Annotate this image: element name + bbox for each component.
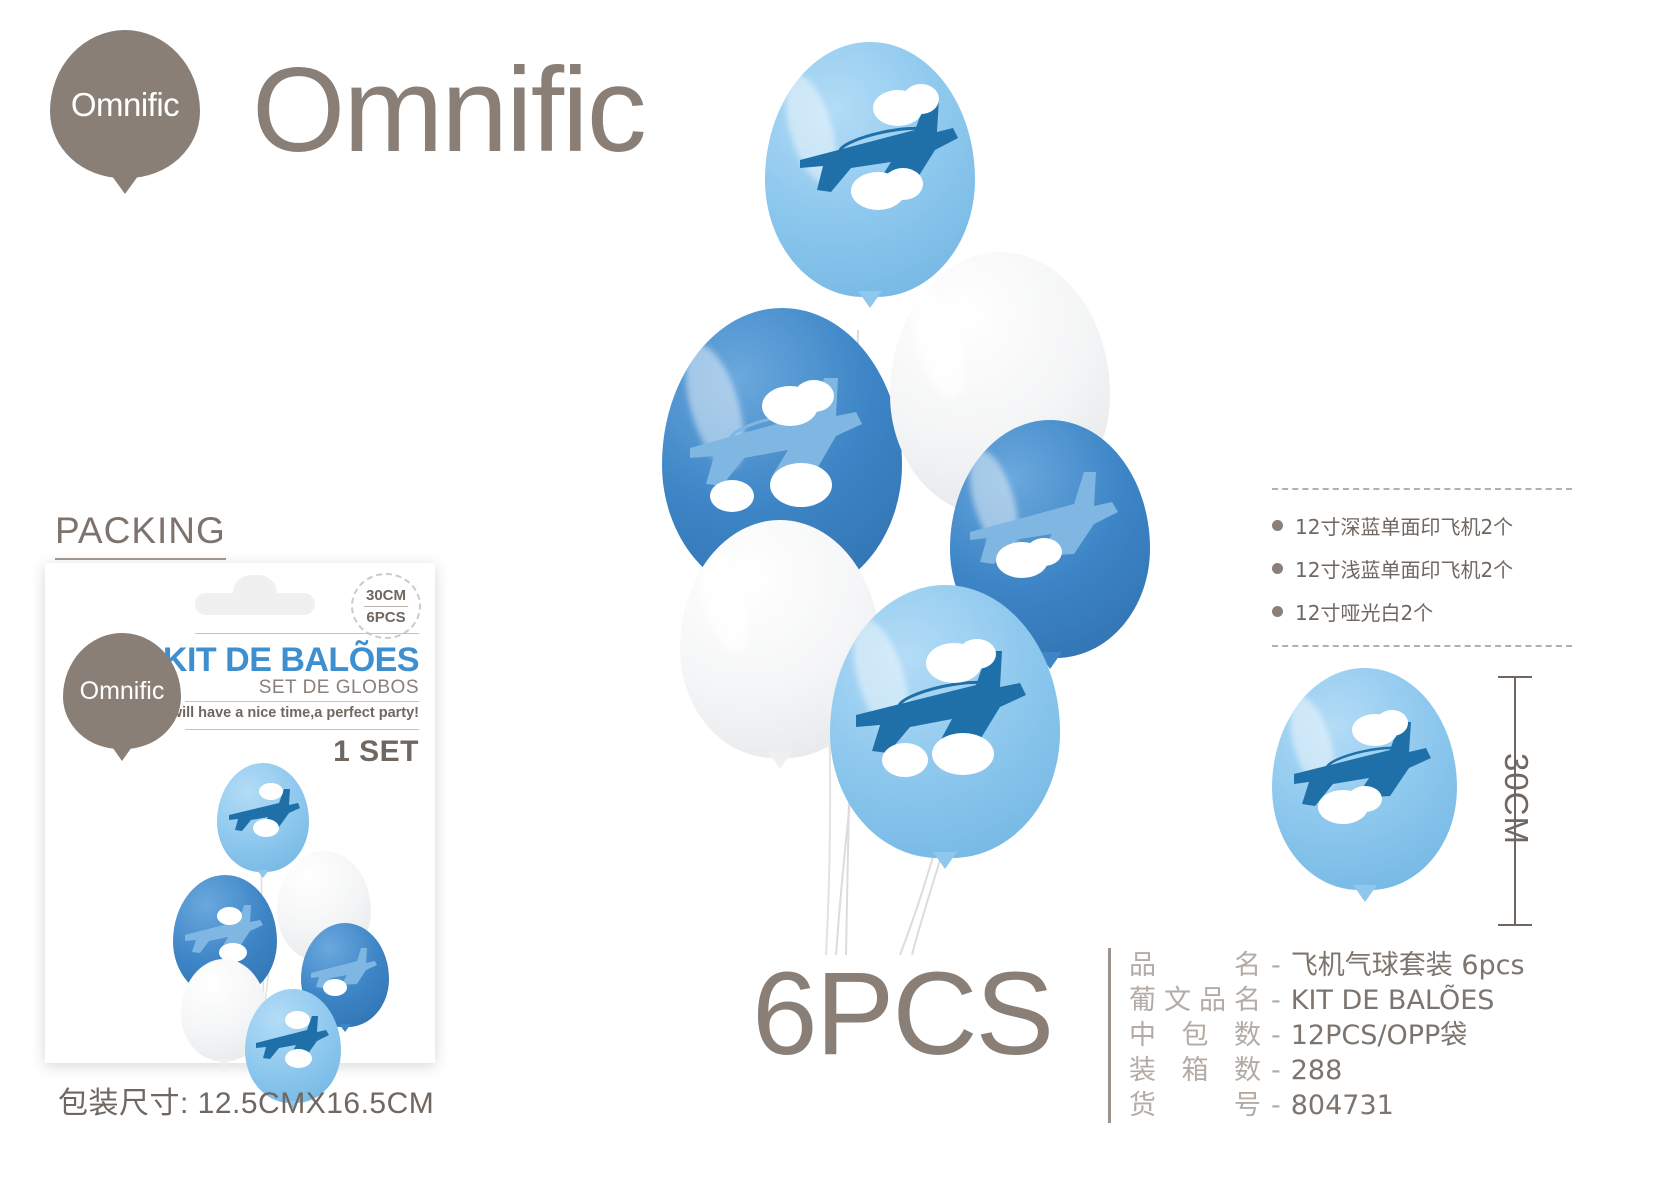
hero-balloon-cluster [640, 30, 1160, 960]
contents-item-label: 12寸深蓝单面印飞机2个 [1295, 511, 1513, 540]
spec-dash: - [1261, 1088, 1291, 1123]
bullet-icon [1272, 563, 1283, 574]
brand-logo-text: Omnific [50, 86, 200, 124]
cloud-shape [882, 743, 928, 777]
spec-key-char: 数 [1234, 1018, 1261, 1053]
balloon-light-blue-bottom [830, 585, 1060, 895]
cloud-shape [1376, 710, 1408, 736]
dimension-label: 30CM [1497, 729, 1535, 869]
spec-key-char: 名 [1234, 948, 1261, 983]
spec-key-char: 箱 [1182, 1053, 1209, 1088]
card-logo-text: Omnific [63, 677, 181, 706]
spec-key-char: 号 [1234, 1088, 1261, 1123]
brand-header: Omnific Omnific [34, 22, 674, 202]
packing-dimensions-label: 包装尺寸: 12.5CMX16.5CM [58, 1078, 434, 1122]
list-item: 12寸哑光白2个 [1272, 590, 1572, 633]
total-count-display: 6PCS [752, 955, 1052, 1073]
cloud-shape [903, 84, 939, 114]
sample-balloon [1272, 668, 1457, 920]
spec-key-char: 品 [1199, 983, 1226, 1018]
table-row: 货 号 - 804731 [1129, 1088, 1525, 1123]
spec-dash: - [1261, 948, 1291, 983]
dimension-cap-top [1498, 676, 1532, 678]
cloud-shape [883, 168, 923, 200]
dimension-cap-bottom [1498, 924, 1532, 926]
bullet-icon [1272, 606, 1283, 617]
contents-list: 12寸深蓝单面印飞机2个 12寸浅蓝单面印飞机2个 12寸哑光白2个 [1272, 490, 1572, 645]
spec-value: 飞机气球套装 6pcs [1291, 948, 1525, 983]
cloud-shape [958, 639, 996, 669]
badge-size-text: 30CM [366, 587, 406, 604]
card-balloon-cluster [165, 763, 425, 1053]
spec-key-char: 葡 [1129, 983, 1156, 1018]
table-row: 中 包 数 - 12PCS/OPP袋 [1129, 1018, 1525, 1053]
airplane-icon [830, 585, 1060, 858]
card-balloon-logo-icon: Omnific [63, 633, 181, 761]
cloud-shape [1348, 786, 1382, 812]
spec-key-char: 包 [1182, 1018, 1209, 1053]
balloon-knot [1353, 885, 1377, 902]
package-card: 30CM 6PCS KIT DE BALÕES SET DE GLOBOS Yo… [45, 563, 435, 1063]
balloon-surface [1272, 668, 1457, 890]
list-item: 12寸浅蓝单面印飞机2个 [1272, 547, 1572, 590]
spec-key: 葡 文 品 名 [1129, 983, 1261, 1018]
cloud-shape [710, 480, 754, 512]
spec-value: 288 [1291, 1053, 1343, 1088]
list-item: 12寸深蓝单面印飞机2个 [1272, 504, 1572, 547]
table-row: 葡 文 品 名 - KIT DE BALÕES [1129, 983, 1525, 1018]
card-subtitle: SET DE GLOBOS [259, 677, 419, 699]
product-spec-table: 品 名 - 飞机气球套装 6pcs 葡 文 品 名 - KIT DE BALÕE… [1108, 948, 1525, 1123]
balloon-knot [109, 172, 141, 194]
card-tagline: You will have a nice time,a perfect part… [140, 705, 419, 721]
hang-hole-icon [195, 575, 315, 615]
packing-section-title: PACKING [55, 510, 226, 560]
balloon-highlight [901, 280, 975, 404]
balloon-surface [830, 585, 1060, 858]
contents-item-label: 12寸浅蓝单面印飞机2个 [1295, 554, 1513, 583]
spec-key: 货 号 [1129, 1088, 1261, 1123]
spec-key-char: 品 [1129, 948, 1156, 983]
spec-key-char: 数 [1234, 1053, 1261, 1088]
spec-key-char: 名 [1234, 983, 1261, 1018]
brand-wordmark: Omnific [252, 50, 645, 170]
dashed-divider-bottom [1272, 645, 1572, 647]
contents-checklist: 12寸深蓝单面印飞机2个 12寸浅蓝单面印飞机2个 12寸哑光白2个 [1272, 488, 1572, 647]
size-count-badge: 30CM 6PCS [351, 573, 421, 639]
cloud-shape [770, 463, 832, 507]
bullet-icon [1272, 520, 1283, 531]
spec-key-char: 中 [1129, 1018, 1156, 1053]
cloud-shape [932, 733, 994, 775]
balloon-knot [933, 852, 957, 869]
spec-dash: - [1261, 1018, 1291, 1053]
balloon-knot [768, 752, 792, 769]
table-row: 品 名 - 飞机气球套装 6pcs [1129, 948, 1525, 983]
spec-key: 装 箱 数 [1129, 1053, 1261, 1088]
cloud-shape [1026, 538, 1062, 566]
table-row: 装 箱 数 - 288 [1129, 1053, 1525, 1088]
badge-count-text: 6PCS [366, 609, 405, 626]
balloon-highlight [690, 545, 757, 657]
balloon-knot [858, 291, 882, 308]
spec-key-char: 装 [1129, 1053, 1156, 1088]
height-dimension-indicator: 30CM [1462, 676, 1532, 926]
spec-dash: - [1261, 1053, 1291, 1088]
spec-key: 品 名 [1129, 948, 1261, 983]
brand-balloon-logo-icon: Omnific [50, 30, 200, 190]
spec-key-char: 货 [1129, 1088, 1156, 1123]
spec-value: KIT DE BALÕES [1291, 983, 1495, 1018]
airplane-icon [1272, 668, 1457, 890]
spec-key-char: 文 [1164, 983, 1191, 1018]
spec-key: 中 包 数 [1129, 1018, 1261, 1053]
spec-value: 12PCS/OPP袋 [1291, 1018, 1468, 1053]
card-title: KIT DE BALÕES [163, 641, 419, 680]
spec-dash: - [1261, 983, 1291, 1018]
spec-value: 804731 [1291, 1088, 1394, 1123]
cloud-shape [794, 380, 834, 412]
contents-item-label: 12寸哑光白2个 [1295, 597, 1433, 626]
